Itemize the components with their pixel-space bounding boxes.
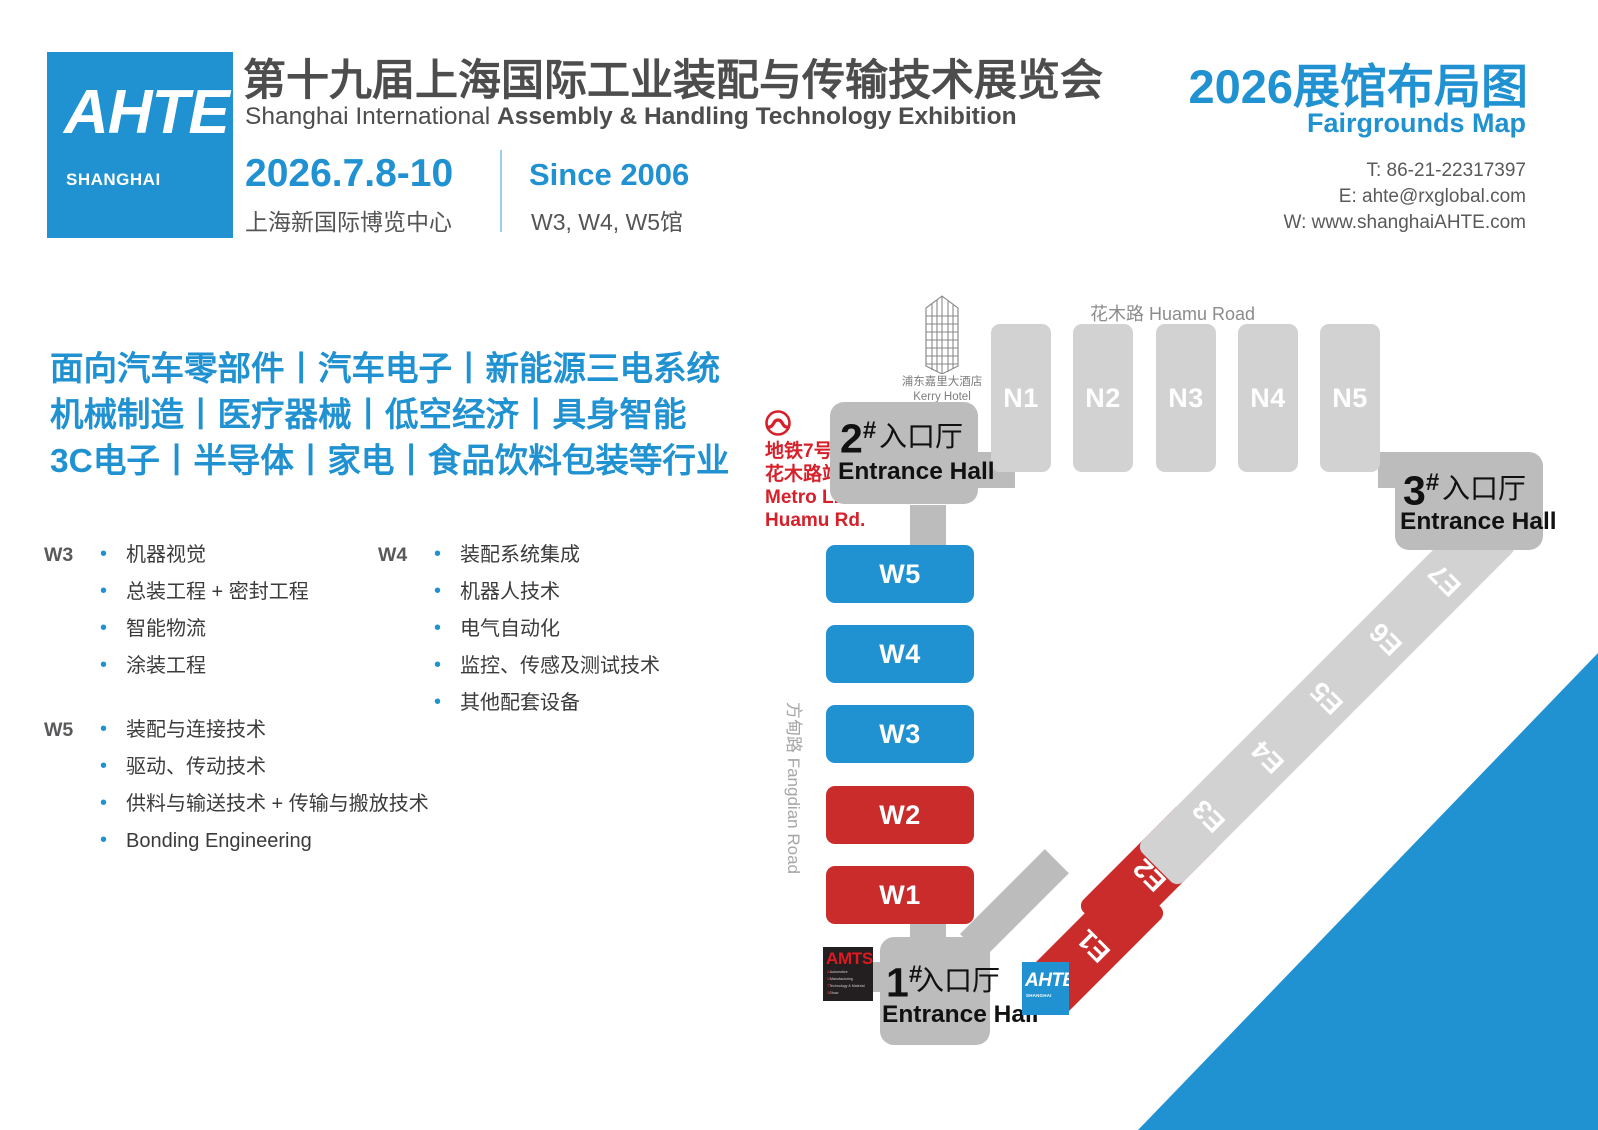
entrance-1-en: Entrance Hall — [882, 1002, 1039, 1028]
hall-topic-label: 智能物流 — [126, 616, 206, 642]
map-title-cn: 2026展馆布局图 — [1188, 48, 1528, 117]
ahte-logo-text: AHTE — [64, 78, 229, 147]
ahte-logo-wordmark: AHTE — [64, 82, 216, 144]
amts-logo-sub1: AAutomotive — [827, 970, 873, 975]
sectors-line-3: 3C电子丨半导体丨家电丨食品饮料包装等行业 — [50, 439, 729, 485]
hall-n5-label: N5 — [1332, 383, 1368, 414]
bullet-icon: • — [100, 542, 126, 566]
hall-topic-label: 涂装工程 — [126, 653, 206, 679]
bullet-icon: • — [100, 653, 126, 677]
contact-block: T: 86-21-22317397 E: ahte@rxglobal.com W… — [1283, 158, 1526, 236]
hall-topic-label: 机器视觉 — [126, 542, 206, 568]
road-label-huamu: 花木路 Huamu Road — [1090, 300, 1255, 326]
hall-topic-label: 机器人技术 — [460, 579, 560, 605]
left-info-panel: 面向汽车零部件丨汽车电子丨新能源三电系统 机械制造丨医疗器械丨低空经济丨具身智能… — [0, 262, 760, 1130]
page-title-en-plain: Shanghai International — [245, 103, 497, 130]
hall-w5-label: W5 — [879, 559, 921, 590]
hall-n3[interactable]: N3 — [1156, 324, 1216, 472]
list-item: • 驱动、传动技术 — [44, 754, 389, 791]
hall-n5[interactable]: N5 — [1320, 324, 1380, 472]
bullet-icon: • — [100, 754, 126, 778]
hall-w1-label: W1 — [879, 880, 921, 911]
ahte-mini-logo[interactable]: AHTE SHANGHAI — [1022, 962, 1069, 1015]
kerry-hotel-marker: 浦东嘉里大酒店 Kerry Hotel — [900, 290, 984, 404]
entrance-2-en: Entrance Hall — [838, 459, 995, 485]
hall-n4-label: N4 — [1250, 383, 1286, 414]
map-title-en: Fairgrounds Map — [1307, 108, 1526, 139]
list-item: W3 • 机器视觉 — [44, 542, 389, 579]
amts-logo-sub2: MManufacturing — [827, 977, 873, 982]
metro-icon — [765, 410, 791, 436]
list-item: • 总装工程 + 密封工程 — [44, 579, 389, 616]
entrance-1-cn: 入口厅 — [916, 966, 1000, 996]
hall-tag-w3: W3 — [44, 542, 100, 568]
hall-topic-label: 装配与连接技术 — [126, 717, 266, 743]
amts-logo-text: AMTS — [826, 950, 873, 968]
list-item: • 电气自动化 — [378, 616, 718, 653]
header-halls-label: W3, W4, W5馆 — [531, 203, 683, 237]
amts-logo-sub3: TTechnology & Material — [827, 984, 873, 989]
list-item: • 其他配套设备 — [378, 690, 718, 727]
hall-topic-group-w3: W3 • 机器视觉 • 总装工程 + 密封工程 • 智能物流 — [44, 542, 389, 690]
hall-tag-w4: W4 — [378, 542, 434, 568]
hall-topic-label: 供料与输送技术 + 传输与搬放技术 — [126, 791, 429, 817]
entrance-2-hash: # — [863, 417, 876, 444]
hall-topic-label: 驱动、传动技术 — [126, 754, 266, 780]
entrance-3-cn: 入口厅 — [1442, 474, 1526, 504]
bullet-icon: • — [100, 616, 126, 640]
metro-station-en: Huamu Rd. — [765, 509, 877, 532]
hall-n3-label: N3 — [1168, 383, 1204, 414]
hall-w4-label: W4 — [879, 639, 921, 670]
connector-entrance2-w5 — [910, 505, 946, 547]
ahte-mini-logo-text: AHTE — [1025, 971, 1069, 991]
road-label-fangdian: 方甸路 Fangdian Road — [783, 702, 808, 874]
hall-e7-label: E7 — [1422, 556, 1467, 601]
ahte-mini-logo-sub: SHANGHAI — [1026, 993, 1069, 998]
contact-tel: T: 86-21-22317397 — [1283, 158, 1526, 184]
entrance-3-digit: 3 — [1403, 468, 1426, 514]
list-item: • 供料与输送技术 + 传输与搬放技术 — [44, 791, 389, 828]
hall-topic-label: 装配系统集成 — [460, 542, 580, 568]
bullet-icon: • — [100, 791, 126, 815]
list-item: • 机器人技术 — [378, 579, 718, 616]
hall-topic-label: 监控、传感及测试技术 — [460, 653, 660, 679]
hall-topic-group-w4: W4 • 装配系统集成 • 机器人技术 • 电气自动化 — [378, 542, 718, 727]
target-sectors: 面向汽车零部件丨汽车电子丨新能源三电系统 机械制造丨医疗器械丨低空经济丨具身智能… — [50, 347, 729, 485]
bullet-icon: • — [100, 828, 126, 852]
hall-w5[interactable]: W5 — [826, 545, 974, 603]
hall-n1-label: N1 — [1003, 383, 1039, 414]
hall-w2-label: W2 — [879, 800, 921, 831]
bullet-icon: • — [434, 690, 460, 714]
bullet-icon: • — [100, 717, 126, 741]
hall-topic-group-w5: W5 • 装配与连接技术 • 驱动、传动技术 • 供料与输送技术 + 传输与搬放… — [44, 717, 389, 865]
hall-topic-label: 总装工程 + 密封工程 — [126, 579, 309, 605]
bullet-icon: • — [434, 542, 460, 566]
list-item: • 智能物流 — [44, 616, 389, 653]
list-item: • 监控、传感及测试技术 — [378, 653, 718, 690]
entrance-3-hash: # — [1426, 469, 1439, 496]
fairgrounds-map-page: AHTE SHANGHAI 第十九届上海国际工业装配与传输技术展览会 Shang… — [0, 0, 1598, 1130]
header-divider — [500, 150, 502, 232]
hall-w1[interactable]: W1 — [826, 866, 974, 924]
entrance-3-en: Entrance Hall — [1400, 509, 1557, 535]
amts-logo-sub4: SShow — [827, 991, 873, 996]
since-label: Since 2006 — [529, 157, 689, 193]
hall-n1[interactable]: N1 — [991, 324, 1051, 472]
hall-tag-w5: W5 — [44, 717, 100, 743]
list-item: • Bonding Engineering — [44, 828, 389, 865]
hall-w3[interactable]: W3 — [826, 705, 974, 763]
entrance-2-cn: 入口厅 — [879, 422, 963, 452]
hall-topics-column-left: W3 • 机器视觉 • 总装工程 + 密封工程 • 智能物流 — [44, 542, 389, 865]
entrance-1-digit: 1 — [886, 960, 909, 1006]
hall-topic-label: 电气自动化 — [460, 616, 560, 642]
hall-w2[interactable]: W2 — [826, 786, 974, 844]
hall-w3-label: W3 — [879, 719, 921, 750]
list-item: • 涂装工程 — [44, 653, 389, 690]
page-title-en: Shanghai International Assembly & Handli… — [245, 103, 1017, 131]
hall-topic-label: Bonding Engineering — [126, 828, 312, 854]
contact-web[interactable]: W: www.shanghaiAHTE.com — [1283, 210, 1526, 236]
bullet-icon: • — [434, 579, 460, 603]
hall-n4[interactable]: N4 — [1238, 324, 1298, 472]
list-item: W5 • 装配与连接技术 — [44, 717, 389, 754]
bullet-icon: • — [434, 653, 460, 677]
sectors-line-1: 面向汽车零部件丨汽车电子丨新能源三电系统 — [50, 347, 729, 393]
entrance-3-number: 3# — [1403, 462, 1439, 512]
hall-topics-column-right: W4 • 装配系统集成 • 机器人技术 • 电气自动化 — [378, 542, 718, 727]
contact-email[interactable]: E: ahte@rxglobal.com — [1283, 184, 1526, 210]
hall-n2[interactable]: N2 — [1073, 324, 1133, 472]
hall-w4[interactable]: W4 — [826, 625, 974, 683]
page-title-en-bold: Assembly & Handling Technology Exhibitio… — [497, 103, 1017, 130]
bullet-icon: • — [100, 579, 126, 603]
amts-logo[interactable]: AMTS AAutomotive MManufacturing TTechnol… — [823, 947, 873, 1001]
event-dates: 2026.7.8-10 — [245, 152, 453, 196]
hall-n2-label: N2 — [1085, 383, 1121, 414]
hotel-name-cn: 浦东嘉里大酒店 — [900, 376, 984, 389]
sectors-line-2: 机械制造丨医疗器械丨低空经济丨具身智能 — [50, 393, 729, 439]
bullet-icon: • — [434, 616, 460, 640]
ahte-logo: AHTE SHANGHAI — [47, 52, 233, 238]
page-title-cn: 第十九届上海国际工业装配与传输技术展览会 — [243, 46, 1103, 108]
list-item: W4 • 装配系统集成 — [378, 542, 718, 579]
event-venue: 上海新国际博览中心 — [245, 203, 452, 237]
page-header: AHTE SHANGHAI 第十九届上海国际工业装配与传输技术展览会 Shang… — [0, 0, 1598, 262]
ahte-logo-city: SHANGHAI — [66, 170, 161, 190]
hall-topic-label: 其他配套设备 — [460, 690, 580, 716]
hotel-building-icon — [914, 290, 970, 374]
entrance-2-number: 2# — [840, 410, 876, 460]
entrance-2-digit: 2 — [840, 416, 863, 462]
